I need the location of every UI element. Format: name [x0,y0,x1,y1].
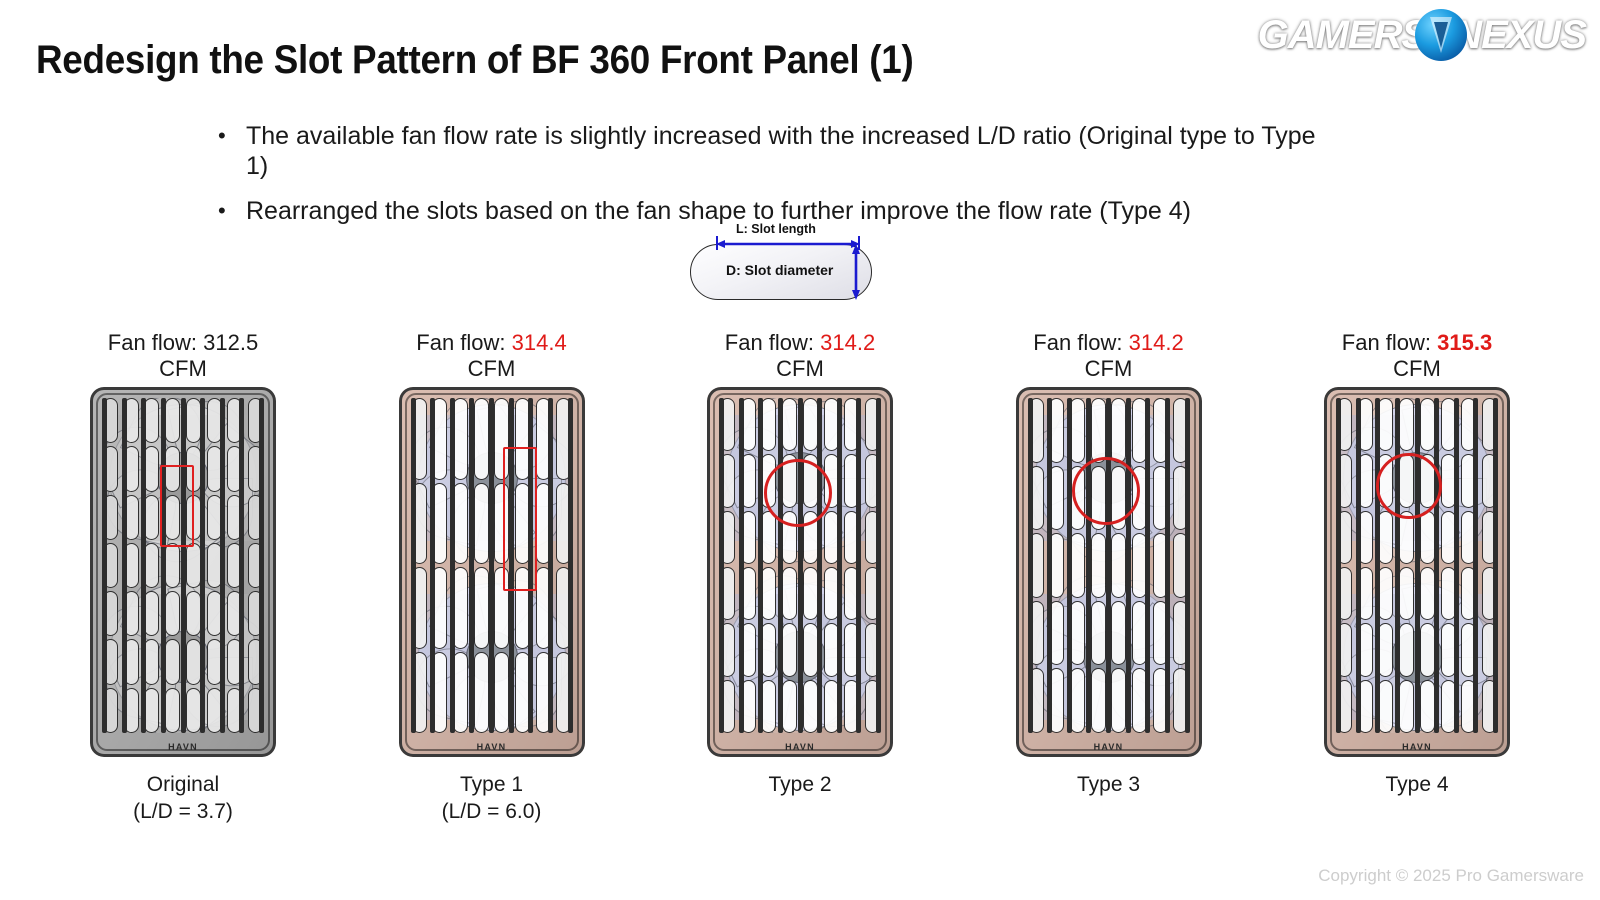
slot-column [555,398,572,733]
slot [1111,668,1126,733]
slot [494,652,509,734]
slot-column [1336,398,1353,733]
slot [1132,466,1147,531]
panel-brand-label: HAVN [707,742,893,752]
slot [103,591,118,636]
slot [1111,533,1126,598]
slot-column [247,398,264,733]
slot [741,680,756,733]
slot-column [823,398,840,733]
slot [1029,398,1044,463]
front-panel-render-original: HAVN [90,387,276,757]
slot [412,398,427,480]
bullet-item: • The available fan flow rate is slightl… [218,122,1338,181]
slot [1358,511,1373,564]
slot [103,688,118,733]
slot [1029,668,1044,733]
slot [227,495,242,540]
slot [186,495,201,540]
panel-brand-label: HAVN [1016,742,1202,752]
slot [227,591,242,636]
slot [186,398,201,443]
slot-column [1481,398,1498,733]
slot [144,639,159,684]
slot [103,639,118,684]
slot [515,483,530,565]
slot-column [1069,398,1086,733]
slot [741,567,756,620]
panel-column-type-1: Fan flow: 314.4CFMHAVNType 1(L/D = 6.0) [377,330,607,830]
slot [1132,668,1147,733]
gamers-nexus-watermark: GAMERS NEXUS [1266,4,1586,66]
slot [103,398,118,443]
panel-caption: Type 2 [768,771,831,798]
panel-brand-label: HAVN [1324,742,1510,752]
slot [1070,533,1085,598]
slot [1049,398,1064,463]
slot-column [1090,398,1107,733]
slot [1337,454,1352,507]
slot [165,446,180,491]
slot [1399,454,1414,507]
slot [124,543,139,588]
panel-caption-ratio: (L/D = 3.7) [133,798,233,825]
slot [248,446,263,491]
slot [1111,601,1126,666]
slot [1441,567,1456,620]
slot [207,543,222,588]
fan-flow-value: 314.2 [1129,330,1184,355]
panel-column-type-3: Fan flow: 314.2CFMHAVNType 3 [994,330,1224,830]
slot [803,454,818,507]
slot [1111,466,1126,531]
fan-flow-unit: CFM [159,356,207,382]
slot [1091,668,1106,733]
slot [124,688,139,733]
slot-grid [1028,398,1190,733]
fan-flow-unit: CFM [1393,356,1441,382]
slot [474,398,489,480]
slot [782,623,797,676]
fan-flow-label: Fan flow: 314.2 [725,330,875,356]
slot [1132,398,1147,463]
panel-caption: Original(L/D = 3.7) [133,771,233,826]
slot [865,623,880,676]
slot [515,567,530,649]
bullet-text: The available fan flow rate is slightly … [246,122,1338,181]
slot [1173,398,1188,463]
slot [103,495,118,540]
slot [432,567,447,649]
panel-caption: Type 4 [1385,771,1448,798]
slot-column [473,398,490,733]
slot [1378,454,1393,507]
copyright-notice: Copyright © 2025 Pro Gamersware [1318,866,1584,886]
slot [186,688,201,733]
fan-flow-prefix: Fan flow: [1342,330,1437,355]
slot [1420,680,1435,733]
slot [1173,466,1188,531]
slot [803,680,818,733]
slot-column [123,398,140,733]
slot-grid [102,398,264,733]
slot-length-arrow-icon [716,239,860,249]
slot-column [206,398,223,733]
fan-flow-prefix: Fan flow: [108,330,203,355]
slot [1482,567,1497,620]
slot [186,543,201,588]
slot [494,483,509,565]
slot [803,398,818,451]
slot [556,567,571,649]
slot [124,495,139,540]
fan-flow-prefix: Fan flow: [725,330,820,355]
panel-caption: Type 3 [1077,771,1140,798]
slot [207,495,222,540]
slot [515,652,530,734]
slot [1461,454,1476,507]
slot [824,454,839,507]
slot-column [535,398,552,733]
slot [761,454,776,507]
slot [144,543,159,588]
fan-flow-value: 315.3 [1437,330,1492,355]
slot-grid [411,398,573,733]
slot [124,639,139,684]
slot [432,652,447,734]
panel-caption-title: Type 4 [1385,773,1448,796]
slot-grid [1336,398,1498,733]
slot-dimension-legend: L: Slot length D: Slot diameter [690,222,880,300]
slot [803,623,818,676]
slot [1461,680,1476,733]
fan-flow-prefix: Fan flow: [1033,330,1128,355]
slot [1132,601,1147,666]
slot [824,398,839,451]
slot [165,543,180,588]
slot [1337,398,1352,451]
slot-column [493,398,510,733]
slot [1441,511,1456,564]
slot [1482,680,1497,733]
slot [227,398,242,443]
slot [1358,623,1373,676]
panel-caption: Type 1(L/D = 6.0) [442,771,542,826]
slot [1337,680,1352,733]
slot [536,398,551,480]
slot [1482,511,1497,564]
slot [1441,623,1456,676]
slot-column [1110,398,1127,733]
slot [165,398,180,443]
slot [536,567,551,649]
slot [865,680,880,733]
slot [720,511,735,564]
slot [1399,567,1414,620]
fan-flow-label: Fan flow: 314.2 [1033,330,1183,356]
slot [1461,623,1476,676]
slot-column [1028,398,1045,733]
slot [453,652,468,734]
slot [1461,511,1476,564]
slot [741,398,756,451]
slot [227,543,242,588]
slot [124,398,139,443]
panel-column-type-2: Fan flow: 314.2CFMHAVNType 2 [685,330,915,830]
slot [1378,623,1393,676]
slot [1029,466,1044,531]
slot [1358,398,1373,451]
slot [227,446,242,491]
slot [1153,668,1168,733]
slot [1091,533,1106,598]
slot [453,567,468,649]
slot-column [411,398,428,733]
slot [824,567,839,620]
slot [741,511,756,564]
slot-column [1440,398,1457,733]
slot [1378,680,1393,733]
slot [432,483,447,565]
slot [248,688,263,733]
slot-column [719,398,736,733]
slot [515,398,530,480]
slot [824,623,839,676]
slot [761,511,776,564]
slot [720,567,735,620]
slot [165,591,180,636]
slot [248,398,263,443]
slot-column [226,398,243,733]
slot [124,591,139,636]
slot [474,652,489,734]
slot [227,639,242,684]
slot [803,567,818,620]
slot [1482,454,1497,507]
slot [1091,466,1106,531]
slot [186,639,201,684]
fan-flow-prefix: Fan flow: [416,330,511,355]
slot [474,567,489,649]
slot [720,680,735,733]
slot [1399,398,1414,451]
slot [844,511,859,564]
slot [1153,466,1168,531]
fan-flow-value: 314.4 [512,330,567,355]
slot [556,398,571,480]
panel-caption-title: Original [147,773,219,796]
slot [844,398,859,451]
logo-text-nexus: NEXUS [1453,15,1586,55]
panel-column-type-4: Fan flow: 315.3CFMHAVNType 4 [1302,330,1532,830]
slot [207,591,222,636]
panel-comparison-row: Fan flow: 312.5CFMHAVNOriginal(L/D = 3.7… [0,330,1600,830]
slot-column [781,398,798,733]
slot [412,652,427,734]
slot [144,446,159,491]
slot-grid [719,398,881,733]
slot [412,567,427,649]
front-panel-render-type-2: HAVN [707,387,893,757]
slot [536,652,551,734]
slot-column [452,398,469,733]
slot [186,446,201,491]
slot-column [1152,398,1169,733]
slot [144,495,159,540]
slot [1049,466,1064,531]
slot [227,688,242,733]
panel-caption-title: Type 1 [460,773,523,796]
slot [1482,398,1497,451]
slot [1358,680,1373,733]
slot [1029,533,1044,598]
slot-column [760,398,777,733]
slot [165,639,180,684]
slot [144,398,159,443]
fan-flow-unit: CFM [468,356,516,382]
slot [1420,511,1435,564]
slot [1461,567,1476,620]
panel-grille-area [411,398,573,733]
slot [1420,623,1435,676]
slot [1358,454,1373,507]
slot [865,511,880,564]
slot-column [102,398,119,733]
slot [782,680,797,733]
slot [1029,601,1044,666]
panel-brand-label: HAVN [90,742,276,752]
slot-column [1460,398,1477,733]
slot [1070,398,1085,463]
slot [165,688,180,733]
slot [1153,533,1168,598]
panel-caption-ratio: (L/D = 6.0) [442,798,542,825]
slot [1378,567,1393,620]
slot [761,567,776,620]
slot-column [1398,398,1415,733]
slot-column [1131,398,1148,733]
logo-text-gamers: GAMERS [1258,15,1428,55]
slot [1420,398,1435,451]
slot [782,567,797,620]
slot-column [802,398,819,733]
slot [1378,398,1393,451]
gamers-nexus-emblem-icon [1415,9,1467,61]
slot-diameter-arrow-icon [850,244,862,300]
slot [782,454,797,507]
slot-column [143,398,160,733]
slot [453,483,468,565]
slot [741,623,756,676]
slot [207,446,222,491]
slot [844,454,859,507]
slot [1378,511,1393,564]
slot [1111,398,1126,463]
slot [1173,533,1188,598]
slot-length-tick-left [716,236,718,250]
slot [103,446,118,491]
slot-column [514,398,531,733]
slot [1337,623,1352,676]
slot-column [740,398,757,733]
fan-flow-value: 312.5 [203,330,258,355]
slot [1173,601,1188,666]
slot-column [431,398,448,733]
slot-column [843,398,860,733]
slot [556,483,571,565]
fan-flow-unit: CFM [776,356,824,382]
slot [782,511,797,564]
fan-flow-value: 314.2 [820,330,875,355]
slot-column [1172,398,1189,733]
slot [103,543,118,588]
slot [165,495,180,540]
slot [720,398,735,451]
slot [782,398,797,451]
slot [761,623,776,676]
slot [824,680,839,733]
slot [1441,680,1456,733]
fan-flow-label: Fan flow: 312.5 [108,330,258,356]
front-panel-render-type-3: HAVN [1016,387,1202,757]
page-title: Redesign the Slot Pattern of BF 360 Fron… [36,38,913,83]
slot-diameter-label: D: Slot diameter [726,262,833,278]
panel-column-original: Fan flow: 312.5CFMHAVNOriginal(L/D = 3.7… [68,330,298,830]
slot-column [185,398,202,733]
slot-column [864,398,881,733]
slot-column [1357,398,1374,733]
slot [1482,623,1497,676]
panel-grille-area [1028,398,1190,733]
slot [494,398,509,480]
panel-caption-title: Type 2 [768,773,831,796]
slot [453,398,468,480]
fan-flow-label: Fan flow: 315.3 [1342,330,1492,356]
bullet-marker-icon: • [218,122,246,150]
slot [1441,454,1456,507]
slot [248,591,263,636]
slot [1420,454,1435,507]
fan-flow-label: Fan flow: 314.4 [416,330,566,356]
slot [474,483,489,565]
slot [865,398,880,451]
slot [720,454,735,507]
slot [1399,680,1414,733]
slot [248,495,263,540]
slot [186,591,201,636]
slot [124,446,139,491]
slot [844,567,859,620]
slot [556,652,571,734]
front-panel-render-type-4: HAVN [1324,387,1510,757]
slot [144,591,159,636]
slot [432,398,447,480]
slot [865,567,880,620]
slot [1420,567,1435,620]
slot [1132,533,1147,598]
slot [741,454,756,507]
slot [1049,601,1064,666]
slot [1153,601,1168,666]
slot [1049,668,1064,733]
slot [1070,466,1085,531]
panel-grille-area [719,398,881,733]
slot [865,454,880,507]
slot [1399,511,1414,564]
slot [412,483,427,565]
slot [803,511,818,564]
slot [1337,511,1352,564]
